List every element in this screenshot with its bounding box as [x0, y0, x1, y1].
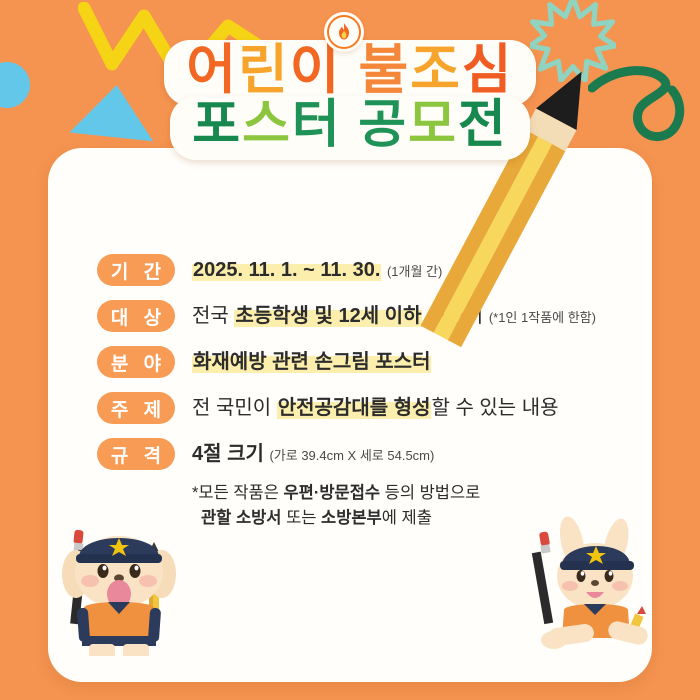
row-highlight: 안전공감대를 형성 [277, 397, 432, 419]
row-highlight: 2025. 11. 1. ~ 11. 30. [192, 259, 381, 281]
circle-doodle-icon [0, 62, 30, 108]
footnote-line2-d: 에 제출 [382, 509, 432, 527]
row-label-field: 분 야 [97, 346, 175, 378]
footnote-line1-a: *모든 작품은 [192, 484, 284, 502]
footnote-line2-a: 관할 소방서 [201, 509, 281, 527]
title-char: 조 [410, 40, 462, 100]
row-value-field: 화재예방 관련 손그림 포스터 [192, 345, 431, 379]
title-space [341, 40, 358, 100]
row-value-target: 전국 초등학생 및 12세 이하 어린이 (*1인 1작품에 한함) [192, 299, 596, 335]
title-char: 불 [359, 40, 411, 100]
row-note: (가로 39.4cm X 세로 54.5cm) [269, 448, 434, 463]
title-char: 포 [192, 96, 242, 154]
row-highlight: 초등학생 및 12세 이하 [234, 305, 422, 327]
title-char: 모 [408, 96, 458, 154]
row-value-period: 2025. 11. 1. ~ 11. 30. (1개월 간) [192, 253, 442, 289]
flame-glyph [337, 23, 351, 41]
row-label-period: 기 간 [97, 254, 175, 286]
title-char: 전 [458, 96, 508, 154]
flame-icon [324, 12, 364, 52]
title-space [342, 96, 358, 154]
rabbit-firefighter-mascot [524, 514, 666, 656]
poster-root: 어린이 불조심 포스터 공모전 기 간 2025. 11. 1. ~ 11. 3… [0, 0, 700, 700]
footnote-line2-b: 또는 [281, 509, 321, 527]
info-row-target: 대 상 전국 초등학생 및 12세 이하 어린이 (*1인 1작품에 한함) [97, 299, 596, 345]
row-label-size: 규 격 [97, 438, 175, 470]
row-value-size: 4절 크기 (가로 39.4cm X 세로 54.5cm) [192, 437, 434, 473]
row-note: (*1인 1작품에 한함) [489, 310, 596, 325]
title-char: 심 [462, 40, 514, 100]
loop-doodle-icon [588, 62, 696, 148]
info-row-period: 기 간 2025. 11. 1. ~ 11. 30. (1개월 간) [97, 253, 596, 299]
row-highlight: 화재예방 관련 손그림 포스터 [192, 351, 431, 373]
title-char: 공 [358, 96, 408, 154]
paintbrush-icon [532, 531, 553, 624]
row-highlight: 4절 크기 [192, 443, 264, 465]
row-value-theme: 전 국민이 안전공감대를 형성할 수 있는 내용 [192, 391, 559, 425]
submission-footnote: *모든 작품은 우편·방문접수 등의 방법으로 관할 소방서 또는 소방본부에 … [192, 481, 480, 531]
title-char: 이 [290, 40, 342, 100]
info-row-size: 규 격 4절 크기 (가로 39.4cm X 세로 54.5cm) [97, 437, 596, 483]
row-label-theme: 주 제 [97, 392, 175, 424]
row-label-target: 대 상 [97, 300, 175, 332]
info-row-field: 분 야 화재예방 관련 손그림 포스터 [97, 345, 596, 391]
row-note: (1개월 간) [387, 264, 442, 279]
info-row-theme: 주 제 전 국민이 안전공감대를 형성할 수 있는 내용 [97, 391, 596, 437]
title-char: 스 [242, 96, 292, 154]
info-list: 기 간 2025. 11. 1. ~ 11. 30. (1개월 간) 대 상 전… [97, 253, 596, 483]
title-char: 터 [292, 96, 342, 154]
zigzag-doodle-icon [78, 2, 268, 92]
footnote-line2-c: 소방본부 [321, 509, 382, 527]
row-prefix: 전국 [192, 305, 234, 327]
row-suffix: 할 수 있는 내용 [431, 397, 558, 419]
footnote-line1-c: 등의 방법으로 [380, 484, 480, 502]
dog-firefighter-mascot [52, 516, 186, 656]
footnote-line1-b: 우편·방문접수 [284, 484, 381, 502]
row-prefix: 전 국민이 [192, 397, 277, 419]
footnote-line2: 관할 소방서 또는 소방본부에 제출 [201, 506, 480, 531]
